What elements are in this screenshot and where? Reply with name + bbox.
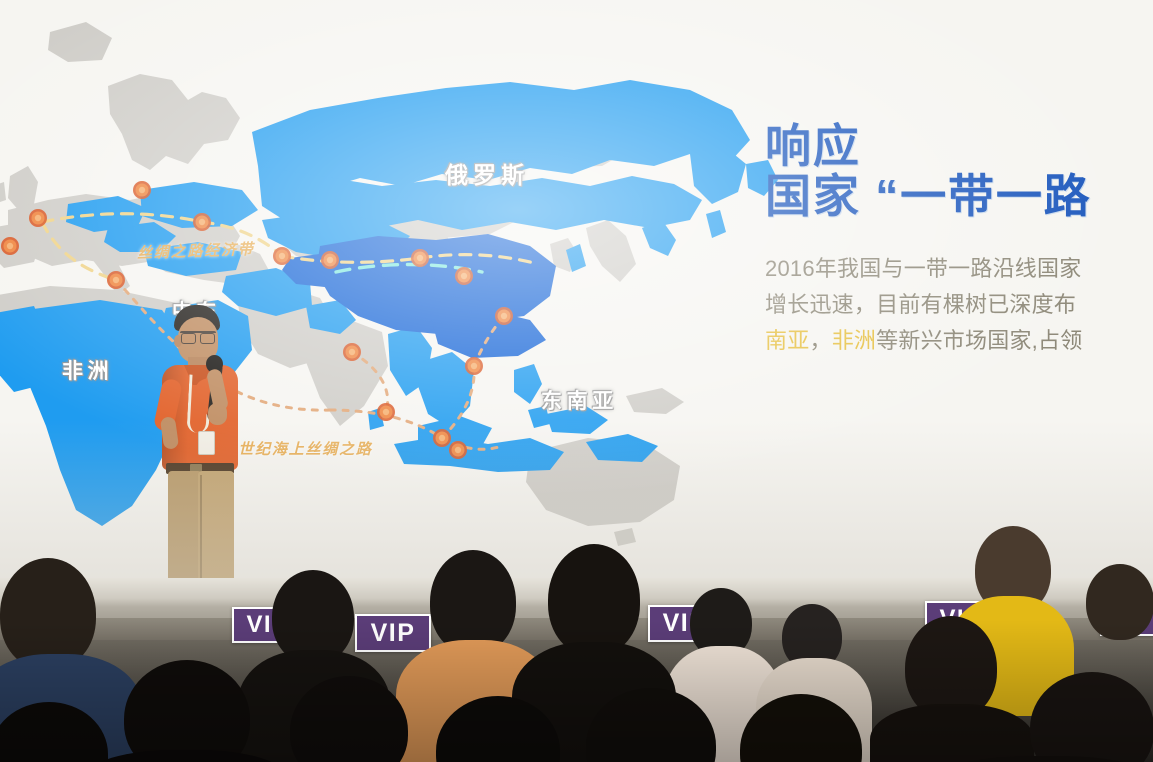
slide-text-block: 响应 国家 “一带一路 2016年我国与一带一路沿线国家 增长迅速，目前有棵树已… xyxy=(765,122,1153,358)
badge-icon xyxy=(198,431,215,455)
world-map-graphic: 俄罗斯 中东 非洲 东南亚 丝绸之路经济带 21世纪海上丝绸之路 xyxy=(0,14,780,559)
body-suffix: 等新兴市场国家,占领 xyxy=(876,328,1082,353)
audience-head xyxy=(1086,564,1153,640)
slide-body-block: 2016年我国与一带一路沿线国家 增长迅速，目前有棵树已深度布 南亚，非洲等新兴… xyxy=(765,251,1153,358)
audience-rows xyxy=(0,500,1153,762)
slide-title-line-1: 响应 xyxy=(765,122,1153,172)
speaker-right-hand xyxy=(208,403,227,425)
audience-head xyxy=(430,550,516,654)
glasses-icon xyxy=(180,331,216,340)
highlight-south-asia: 南亚 xyxy=(765,328,809,353)
presentation-photo: 俄罗斯 中东 非洲 东南亚 丝绸之路经济带 21世纪海上丝绸之路 响应 国家 “… xyxy=(0,0,1153,762)
slide-body-line-1: 2016年我国与一带一路沿线国家 xyxy=(765,251,1153,287)
highlight-africa: 非洲 xyxy=(832,328,876,353)
audience-head xyxy=(124,660,250,762)
slide-title-line-2: 国家 “一带一路 xyxy=(765,172,1153,222)
audience-body xyxy=(870,704,1034,762)
slide-body-line-2: 增长迅速，目前有棵树已深度布 xyxy=(765,287,1153,323)
map-svg xyxy=(0,14,780,559)
audience-head xyxy=(548,544,640,656)
body-separator: ， xyxy=(809,328,831,353)
slide-body-line-3: 南亚，非洲等新兴市场国家,占领 xyxy=(765,323,1153,359)
